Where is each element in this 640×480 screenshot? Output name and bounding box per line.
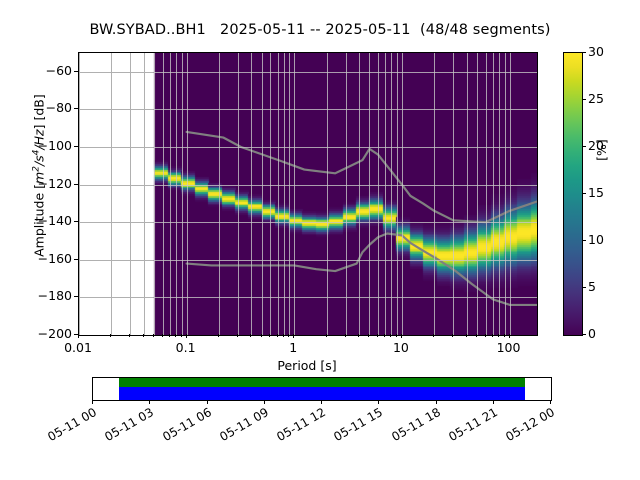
- grid-line-vertical-overlay: [284, 53, 285, 335]
- grid-line-vertical-overlay: [493, 53, 494, 335]
- x-tick-minor: [110, 334, 111, 337]
- x-axis-label: Period [s]: [78, 358, 536, 373]
- x-tick-minor: [261, 334, 262, 337]
- grid-line-vertical-overlay: [219, 53, 220, 335]
- timeline-coverage-axes[interactable]: [92, 377, 552, 401]
- grid-line-vertical-overlay: [402, 53, 403, 335]
- colorbar-tick-mark: [582, 334, 586, 335]
- x-tick-minor: [433, 334, 434, 337]
- grid-line-vertical-overlay: [434, 53, 435, 335]
- colorbar[interactable]: [563, 52, 583, 336]
- noise-model-curves: [79, 53, 537, 335]
- timeline-tick-label: 05-11 18: [380, 405, 442, 449]
- timeline-tick-mark: [493, 400, 494, 404]
- x-tick-minor: [129, 334, 130, 337]
- x-tick-major: [78, 334, 79, 338]
- x-tick-minor: [504, 334, 505, 337]
- colorbar-tick-label: 5: [588, 279, 596, 294]
- x-tick-minor: [153, 334, 154, 337]
- timeline-tick-mark: [92, 400, 93, 404]
- colorbar-tick-label: 15: [588, 185, 604, 200]
- timeline-tick-mark: [207, 400, 208, 404]
- colorbar-tick-mark: [582, 52, 586, 53]
- timeline-tick-label: 05-12 00: [495, 405, 557, 449]
- x-tick-minor: [143, 334, 144, 337]
- grid-line-vertical-overlay: [270, 53, 271, 335]
- colorbar-tick-label: 30: [588, 44, 604, 59]
- timeline-tick-label: 05-11 03: [94, 405, 156, 449]
- x-tick-minor: [358, 334, 359, 337]
- colorbar-tick-label: 25: [588, 91, 604, 106]
- grid-line-horizontal-overlay: [154, 147, 537, 148]
- x-tick-minor: [283, 334, 284, 337]
- ppsd-plot-area[interactable]: [78, 52, 538, 336]
- grid-line-vertical-overlay: [238, 53, 239, 335]
- grid-line-vertical-overlay: [154, 53, 155, 335]
- grid-line-vertical-overlay: [170, 53, 171, 335]
- x-tick-minor: [498, 334, 499, 337]
- y-tick-mark: [74, 221, 78, 222]
- timeline-tick-label: 05-11 15: [323, 405, 385, 449]
- grid-line-horizontal-overlay: [154, 222, 537, 223]
- noise-model-nhnm-line: [187, 132, 537, 222]
- x-tick-minor: [377, 334, 378, 337]
- x-tick-label: 10: [361, 340, 441, 355]
- timeline-tick-mark: [378, 400, 379, 404]
- x-tick-minor: [485, 334, 486, 337]
- grid-line-vertical-overlay: [505, 53, 506, 335]
- grid-line-vertical-overlay: [499, 53, 500, 335]
- y-tick-label: −200: [28, 326, 72, 341]
- grid-line-vertical-overlay: [278, 53, 279, 335]
- grid-line-vertical-overlay: [486, 53, 487, 335]
- x-tick-minor: [269, 334, 270, 337]
- grid-line-horizontal-overlay: [154, 185, 537, 186]
- y-tick-mark: [74, 71, 78, 72]
- grid-line-vertical-overlay: [369, 53, 370, 335]
- grid-line-vertical-overlay: [176, 53, 177, 335]
- y-tick-mark: [74, 184, 78, 185]
- x-tick-major: [509, 334, 510, 338]
- y-tick-mark: [74, 259, 78, 260]
- x-tick-minor: [181, 334, 182, 337]
- grid-line-vertical-overlay: [182, 53, 183, 335]
- grid-line-vertical-overlay: [359, 53, 360, 335]
- timeline-tick-mark: [550, 400, 551, 404]
- y-axis-label-text: Amplitude [m2/s4/Hz] [dB]: [32, 94, 47, 257]
- x-tick-minor: [277, 334, 278, 337]
- noise-model-layer: [79, 53, 537, 335]
- psd-segments-band: [119, 387, 525, 400]
- grid-line-vertical-overlay: [378, 53, 379, 335]
- y-tick-mark: [74, 108, 78, 109]
- grid-line-vertical-overlay: [397, 53, 398, 335]
- x-tick-minor: [452, 334, 453, 337]
- timeline-tick-label: 05-11 09: [208, 405, 270, 449]
- grid-line-horizontal-overlay: [154, 109, 537, 110]
- x-tick-minor: [288, 334, 289, 337]
- noise-model-nlnm-line: [187, 233, 537, 304]
- colorbar-tick-mark: [582, 99, 586, 100]
- x-tick-major: [293, 334, 294, 338]
- timeline-tick-mark: [436, 400, 437, 404]
- grid-line-vertical-overlay: [385, 53, 386, 335]
- grid-line-vertical-overlay: [294, 53, 295, 335]
- grid-line-vertical-overlay: [467, 53, 468, 335]
- grid-line-vertical-overlay: [289, 53, 290, 335]
- grid-line-horizontal-overlay: [154, 297, 537, 298]
- timeline-tick-mark: [321, 400, 322, 404]
- colorbar-tick-mark: [582, 240, 586, 241]
- grid-line-horizontal-overlay: [154, 72, 537, 73]
- timeline-tick-label: 05-11 12: [266, 405, 328, 449]
- page-title: BW.SYBAD..BH1 2025-05-11 -- 2025-05-11 (…: [0, 22, 640, 38]
- x-tick-minor: [345, 334, 346, 337]
- timeline-tick-mark: [264, 400, 265, 404]
- x-tick-label: 100: [469, 340, 549, 355]
- grid-line-vertical-overlay: [346, 53, 347, 335]
- grid-line-vertical-overlay: [510, 53, 511, 335]
- x-tick-label: 0.01: [38, 340, 118, 355]
- grid-line-vertical-overlay: [327, 53, 328, 335]
- x-tick-minor: [326, 334, 327, 337]
- grid-line-horizontal-overlay: [154, 260, 537, 261]
- colorbar-tick-label: 10: [588, 232, 604, 247]
- timeline-tick-label: 05-11 06: [151, 405, 213, 449]
- y-axis-label: Amplitude [m2/s4/Hz] [dB]: [31, 61, 46, 291]
- colorbar-tick-label: 0: [588, 326, 596, 341]
- y-tick-mark: [74, 146, 78, 147]
- y-tick-mark: [74, 296, 78, 297]
- x-tick-minor: [390, 334, 391, 337]
- x-tick-minor: [396, 334, 397, 337]
- grid-line-vertical-overlay: [391, 53, 392, 335]
- grid-line-vertical-overlay: [262, 53, 263, 335]
- timeline-tick-label: 05-11 00: [37, 405, 99, 449]
- y-tick-label: −180: [28, 288, 72, 303]
- x-tick-minor: [169, 334, 170, 337]
- data-coverage-band: [119, 378, 525, 387]
- x-tick-minor: [237, 334, 238, 337]
- grid-line-vertical-overlay: [187, 53, 188, 335]
- grid-line-vertical-overlay: [251, 53, 252, 335]
- colorbar-gradient: [564, 53, 582, 335]
- x-tick-label: 1: [253, 340, 333, 355]
- grid-line-horizontal: [79, 335, 537, 336]
- colorbar-tick-mark: [582, 287, 586, 288]
- colorbar-tick-mark: [582, 193, 586, 194]
- x-tick-minor: [250, 334, 251, 337]
- timeline-tick-mark: [149, 400, 150, 404]
- grid-line-vertical-overlay: [163, 53, 164, 335]
- x-tick-minor: [368, 334, 369, 337]
- x-tick-minor: [384, 334, 385, 337]
- x-tick-minor: [476, 334, 477, 337]
- colorbar-label: [%]: [594, 120, 609, 180]
- grid-line-vertical-overlay: [477, 53, 478, 335]
- timeline-tick-label: 05-11 21: [437, 405, 499, 449]
- x-tick-minor: [492, 334, 493, 337]
- x-tick-major: [186, 334, 187, 338]
- x-tick-minor: [466, 334, 467, 337]
- grid-line-vertical-overlay: [453, 53, 454, 335]
- x-tick-label: 0.1: [146, 340, 226, 355]
- x-tick-minor: [218, 334, 219, 337]
- x-tick-minor: [175, 334, 176, 337]
- colorbar-tick-mark: [582, 146, 586, 147]
- x-tick-minor: [162, 334, 163, 337]
- x-tick-major: [401, 334, 402, 338]
- ppsd-figure: BW.SYBAD..BH1 2025-05-11 -- 2025-05-11 (…: [0, 0, 640, 480]
